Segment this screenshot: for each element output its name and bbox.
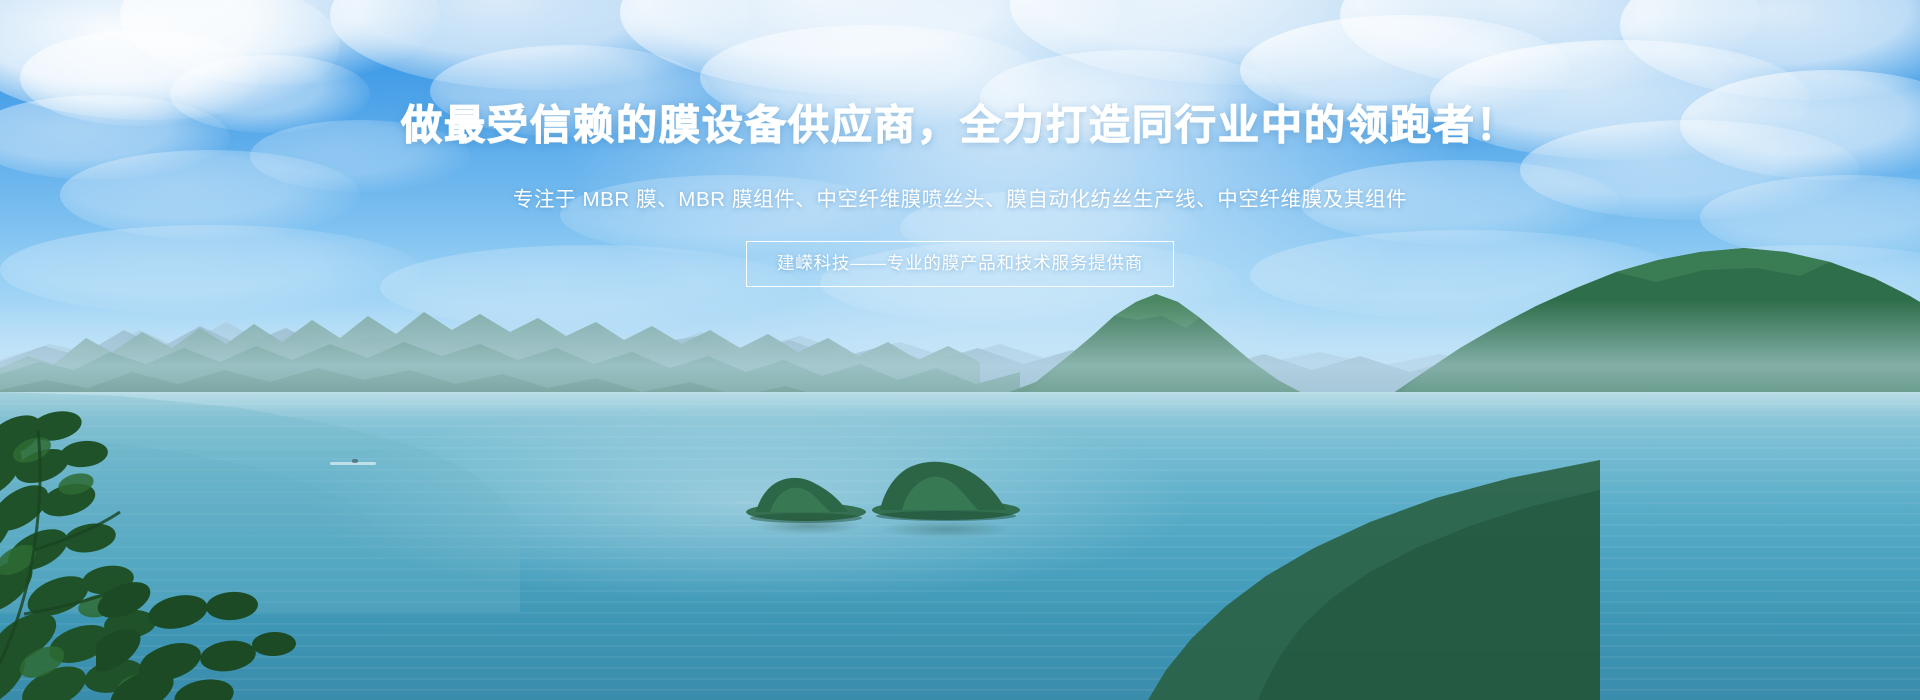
banner-tagline-wrap: 建嵘科技——专业的膜产品和技术服务提供商 bbox=[0, 241, 1920, 287]
banner-text-overlay: 做最受信赖的膜设备供应商，全力打造同行业中的领跑者！ 专注于 MBR 膜、MBR… bbox=[0, 0, 1920, 700]
hero-banner: 做最受信赖的膜设备供应商，全力打造同行业中的领跑者！ 专注于 MBR 膜、MBR… bbox=[0, 0, 1920, 700]
banner-headline: 做最受信赖的膜设备供应商，全力打造同行业中的领跑者！ bbox=[0, 100, 1920, 150]
banner-tagline-box: 建嵘科技——专业的膜产品和技术服务提供商 bbox=[746, 241, 1174, 287]
banner-subtitle: 专注于 MBR 膜、MBR 膜组件、中空纤维膜喷丝头、膜自动化纺丝生产线、中空纤… bbox=[0, 186, 1920, 214]
